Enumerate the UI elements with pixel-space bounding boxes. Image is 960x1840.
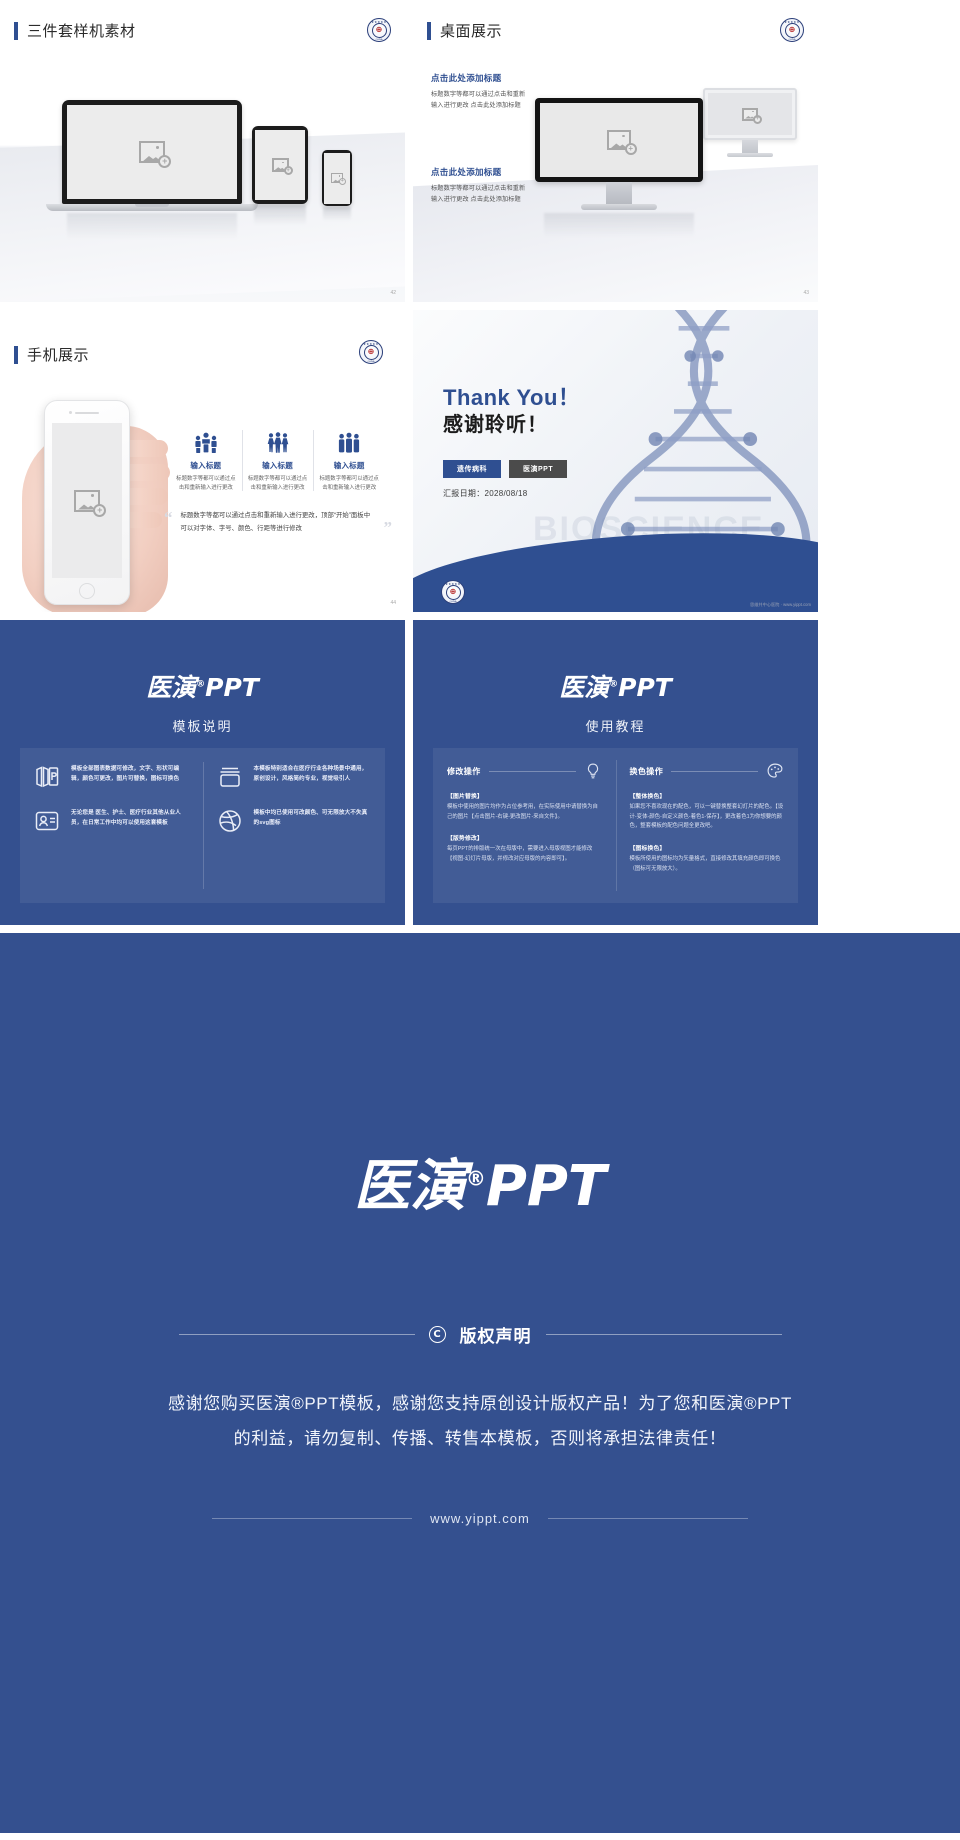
slide-title-text: 手机展示 — [27, 348, 89, 363]
header-rule — [671, 771, 758, 772]
row-gap — [0, 612, 818, 620]
column-gap — [405, 0, 413, 302]
slide-title-desktop: 桌面展示 — [427, 22, 502, 40]
image-placeholder-icon[interactable]: + — [74, 490, 100, 512]
phone-body: + — [322, 150, 352, 206]
intro-panel: 模板全部图表数据可修改，文字、形状可编辑，颜色可更改，图片可替换，图标可换色 无… — [20, 748, 385, 903]
tablet-body: + — [252, 126, 308, 204]
placeholder-sun — [339, 175, 341, 176]
feature-column[interactable]: 输入标题 标题数字等都可以通过点击和重新输入进行更改 — [170, 428, 242, 493]
tutorial-block-title: 【整体换色】 — [630, 791, 785, 800]
primary-monitor-foot — [581, 204, 657, 210]
tag-brand[interactable]: 医演PPT — [509, 460, 567, 478]
slide-copyright[interactable]: 医演®PPT C 版权声明 感谢您购买医演®PPT模板，感谢您支持原创设计版权产… — [0, 933, 960, 1833]
dribbble-icon — [217, 808, 243, 834]
slide-title-text: 三件套样机素材 — [27, 24, 136, 39]
feature-title: 输入标题 — [318, 460, 380, 471]
title-accent-bar — [14, 22, 18, 40]
slide-title-mockup: 三件套样机素材 — [14, 22, 136, 40]
copyright-footer: www.yippt.com — [0, 1511, 960, 1526]
emblem-bottom-text: CHINA — [442, 601, 464, 603]
slide-row-3: 医演®PPT 模板说明 — [0, 620, 818, 925]
feature-desc: 标题数字等都可以通过点击和重新输入进行更改 — [318, 475, 380, 493]
hand-phone-mockup: + — [18, 382, 178, 612]
brand-name: 医演 — [146, 673, 196, 702]
avatar-id-icon — [34, 808, 60, 834]
placeholder-sun — [91, 494, 95, 497]
iphone-home-button[interactable] — [79, 583, 95, 599]
brand-name: 医演 — [559, 673, 609, 702]
tutorial-block: 【整体换色】 如果您不喜欢现在的配色，可以一键替换整套幻灯片的配色。【设计-变体… — [630, 791, 785, 832]
slide-subtitle: 模板说明 — [0, 716, 405, 735]
layers-icon — [34, 764, 60, 790]
placeholder-sun — [622, 135, 625, 138]
quote-close-icon: ” — [384, 520, 393, 535]
quote-text: 标题数字等都可以通过点击和重新输入进行更改，顶部“开始”面板中可以对字体、字号、… — [181, 510, 376, 536]
emblem-inner-ring: ⊕ — [785, 23, 800, 38]
thank-you-title-cn: 感谢聆听！ — [443, 408, 548, 437]
block-body: 标题数字等都可以通过点击和重新输入进行更改 点击此处添加标题 — [431, 183, 527, 205]
quote-open-icon: “ — [164, 510, 173, 536]
intro-item[interactable]: 模板中均已使用可改颜色、可无限放大不失真的svg图标 — [217, 808, 372, 834]
emblem-bottom-text: CHINA — [781, 39, 803, 41]
thank-you-tags: 遗传病科 医演PPT — [443, 460, 567, 478]
tutorial-block-desc: 如果您不喜欢现在的配色，可以一键替换整套幻灯片的配色。【设计-变体-颜色-自定义… — [630, 803, 785, 832]
secondary-monitor-foot — [727, 153, 773, 157]
tutorial-block: 【版势修改】 每页PPT的排版统一次在母版中，需要进入母版视图才能修改【视图-幻… — [447, 833, 602, 864]
brand-suffix: PPT — [618, 673, 672, 702]
hospital-emblem-icon: ★★★★★ ⊕ CHINA — [441, 580, 465, 604]
slide-mobile-showcase[interactable]: 手机展示 ★★★★★ ⊕ CHINA — [0, 310, 405, 612]
slide-row-1: 三件套样机素材 ★★★★★ ⊕ CHINA — [0, 0, 818, 302]
secondary-monitor-content: + — [708, 93, 792, 135]
brand-logo: 医演®PPT — [0, 668, 405, 704]
palette-icon — [766, 762, 784, 780]
slide-deck-preview: 三件套样机素材 ★★★★★ ⊕ CHINA — [0, 0, 960, 1840]
title-accent-bar — [427, 22, 431, 40]
slide-page-number: 42 — [390, 290, 396, 296]
feature-desc: 标题数字等都可以通过点击和重新输入进行更改 — [175, 475, 237, 493]
emblem-inner-ring: ⊕ — [364, 345, 379, 360]
copyright-title: 版权声明 — [460, 1322, 532, 1347]
primary-monitor-mockup: + — [535, 98, 703, 237]
column-gap — [405, 310, 413, 612]
hospital-emblem-icon: ★★★★★ ⊕ CHINA — [780, 18, 804, 42]
copyright-body-text: 感谢您购买医演®PPT模板，感谢您支持原创设计版权产品！为了您和医演®PPT的利… — [160, 1387, 800, 1457]
placeholder-add-badge[interactable]: + — [284, 166, 293, 175]
placeholder-add-badge[interactable]: + — [625, 143, 637, 155]
tutorial-block-desc: 每页PPT的排版统一次在母版中，需要进入母版视图才能修改【视图-幻灯片母版，并修… — [447, 845, 602, 864]
block-heading: 点击此处添加标题 — [431, 72, 527, 84]
feature-title: 输入标题 — [175, 460, 237, 471]
slide-thank-you[interactable]: BIOSCIENCE — [413, 310, 818, 612]
tutorial-block-title: 【版势修改】 — [447, 833, 602, 842]
slide-page-number: 44 — [390, 600, 396, 606]
mobile-quote-block: “ 标题数字等都可以通过点击和重新输入进行更改，顶部“开始”面板中可以对字体、字… — [164, 510, 392, 536]
placeholder-add-badge[interactable]: + — [753, 115, 762, 124]
desktop-text-block-2: 点击此处添加标题 标题数字等都可以通过点击和重新输入进行更改 点击此处添加标题 — [431, 166, 527, 205]
intro-item-text: 模板中均已使用可改颜色、可无限放大不失真的svg图标 — [254, 808, 372, 829]
brand-name: 医演 — [354, 1154, 466, 1219]
tutorial-block-title: 【图标换色】 — [630, 843, 785, 852]
intro-item[interactable]: 模板全部图表数据可修改，文字、形状可编辑，颜色可更改，图片可替换，图标可换色 — [34, 764, 189, 790]
placeholder-sun — [282, 162, 284, 164]
slide-desktop-showcase[interactable]: 桌面展示 ★★★★★ ⊕ CHINA — [413, 0, 818, 302]
primary-monitor-screen: + — [535, 98, 703, 182]
primary-monitor-reflection — [544, 213, 694, 237]
laptop-mockup: + — [62, 100, 242, 239]
tablet-mockup: + — [252, 126, 308, 225]
slide-usage-tutorial[interactable]: 医演®PPT 使用教程 修改操作 — [413, 620, 818, 925]
laptop-base — [46, 204, 258, 211]
brand-logo-block: 医演®PPT — [0, 933, 960, 1222]
brand-suffix: PPT — [486, 1154, 606, 1219]
placeholder-add-badge[interactable]: + — [93, 504, 106, 517]
placeholder-sun — [156, 146, 160, 149]
emblem-cross-glyph: ⊕ — [789, 26, 796, 34]
secondary-monitor-neck — [742, 140, 758, 153]
primary-monitor-neck — [606, 182, 632, 204]
tutorial-column-recolor: 换色操作 【整体换色】 如果您不喜 — [616, 748, 799, 903]
laptop-notch — [135, 204, 169, 207]
slide-page-number: 43 — [803, 290, 809, 296]
brand-logo-block: 医演®PPT 模板说明 — [0, 620, 405, 735]
footer-line-left — [212, 1518, 412, 1519]
hospital-emblem-icon: ★★★★★ ⊕ CHINA — [359, 340, 383, 364]
laptop-screen-content: + — [67, 105, 237, 199]
intro-item-text: 无论您是 医生、护士、医疗行业其他从业人员，在日常工作中均可以使用这套模板 — [71, 808, 189, 829]
tutorial-block-desc: 模板所使用的图标均为矢量格式，直接修改其填充颜色即可换色（图标可无限放大）。 — [630, 855, 785, 874]
tutorial-heading: 修改操作 — [447, 766, 481, 777]
column-gap — [405, 620, 413, 925]
tag-department[interactable]: 遗传病科 — [443, 460, 501, 478]
intro-item[interactable]: 无论您是 医生、护士、医疗行业其他从业人员，在日常工作中均可以使用这套模板 — [34, 808, 189, 834]
feature-columns: 输入标题 标题数字等都可以通过点击和重新输入进行更改 输入标题 标题数字等都可以… — [170, 428, 385, 493]
placeholder-add-badge[interactable]: + — [158, 155, 171, 168]
emblem-cross-glyph: ⊕ — [450, 588, 457, 596]
brand-suffix: PPT — [205, 673, 259, 702]
intro-item-text: 模板全部图表数据可修改，文字、形状可编辑，颜色可更改，图片可替换，图标可换色 — [71, 764, 189, 785]
lightbulb-icon — [584, 762, 602, 780]
tutorial-column-edit: 修改操作 【图片替换】 模板中使用的图片均作为占位参考用，在实际使用中请替换为自… — [433, 748, 616, 903]
phone-reflection — [323, 207, 351, 221]
intro-column-right: 本模板特别适合在医疗行业各种场景中通用，原创设计，风格简约专业，视觉吸引人 模板… — [203, 748, 386, 903]
tutorial-heading: 换色操作 — [630, 766, 664, 777]
box-icon — [217, 764, 243, 790]
slide-row-2: 手机展示 ★★★★★ ⊕ CHINA — [0, 310, 818, 612]
tutorial-block-title: 【图片替换】 — [447, 791, 602, 800]
divider-line-right — [546, 1334, 782, 1335]
laptop-reflection — [67, 213, 237, 239]
tutorial-block: 【图标换色】 模板所使用的图标均为矢量格式，直接修改其填充颜色即可换色（图标可无… — [630, 843, 785, 874]
brand-logo-block: 医演®PPT 使用教程 — [413, 620, 818, 735]
desktop-text-block-1: 点击此处添加标题 标题数字等都可以通过点击和重新输入进行更改 点击此处添加标题 — [431, 72, 527, 111]
team-meeting-icon — [175, 428, 237, 454]
website-url[interactable]: www.yippt.com — [430, 1511, 530, 1526]
copyright-divider: C 版权声明 — [0, 1322, 960, 1347]
tutorial-column-header: 修改操作 — [447, 762, 602, 780]
phone-screen: + — [324, 153, 350, 204]
tutorial-block: 【图片替换】 模板中使用的图片均作为占位参考用，在实际使用中请替换为自己的图片【… — [447, 791, 602, 822]
brand-logo: 医演®PPT — [413, 668, 818, 704]
image-placeholder-icon[interactable]: + — [331, 173, 343, 183]
iphone-camera — [69, 411, 72, 414]
feature-column[interactable]: 输入标题 标题数字等都可以通过点击和重新输入进行更改 — [242, 428, 314, 493]
footer-line-right — [548, 1518, 748, 1519]
slide-subtitle: 使用教程 — [413, 716, 818, 735]
phone-mockup: + — [322, 150, 352, 221]
slide-title-mobile: 手机展示 — [14, 346, 89, 364]
iphone-display: + — [52, 423, 122, 578]
feature-title: 输入标题 — [247, 460, 309, 471]
emblem-bottom-text: CHINA — [360, 361, 382, 363]
image-placeholder-icon[interactable]: + — [272, 158, 289, 172]
intro-item[interactable]: 本模板特别适合在医疗行业各种场景中通用，原创设计，风格简约专业，视觉吸引人 — [217, 764, 372, 790]
emblem-cross-glyph: ⊕ — [376, 26, 383, 34]
people-three-icon — [318, 428, 380, 454]
people-group-icon — [247, 428, 309, 454]
iphone-speaker — [75, 412, 99, 414]
slide-mockup-materials[interactable]: 三件套样机素材 ★★★★★ ⊕ CHINA — [0, 0, 405, 302]
block-body: 标题数字等都可以通过点击和重新输入进行更改 点击此处添加标题 — [431, 89, 527, 111]
report-date-label: 汇报日期：2028/08/18 — [443, 488, 528, 499]
brand-registered-mark: ® — [609, 680, 618, 690]
tablet-reflection — [254, 205, 306, 225]
brand-registered-mark: ® — [196, 680, 205, 690]
tutorial-column-header: 换色操作 — [630, 762, 785, 780]
header-rule — [489, 771, 576, 772]
emblem-inner-ring: ⊕ — [446, 585, 461, 600]
emblem-cross-glyph: ⊕ — [368, 348, 375, 356]
placeholder-add-badge[interactable]: + — [339, 178, 346, 185]
placeholder-sun — [752, 111, 754, 112]
brand-logo: 医演®PPT — [0, 1141, 960, 1222]
intro-column-left: 模板全部图表数据可修改，文字、形状可编辑，颜色可更改，图片可替换，图标可换色 无… — [20, 748, 203, 903]
secondary-monitor-mockup: + — [703, 88, 797, 157]
emblem-inner-ring: ⊕ — [372, 23, 387, 38]
block-heading: 点击此处添加标题 — [431, 166, 527, 178]
hospital-emblem-icon: ★★★★★ ⊕ CHINA — [367, 18, 391, 42]
copyright-icon: C — [429, 1326, 446, 1343]
image-placeholder-icon[interactable]: + — [139, 141, 165, 163]
emblem-bottom-text: CHINA — [368, 39, 390, 41]
secondary-monitor-screen: + — [703, 88, 797, 140]
tutorial-panel: 修改操作 【图片替换】 模板中使用的图片均作为占位参考用，在实际使用中请替换为自… — [433, 748, 798, 903]
tutorial-block-desc: 模板中使用的图片均作为占位参考用，在实际使用中请替换为自己的图片【点击图片-右键… — [447, 803, 602, 822]
feature-column[interactable]: 输入标题 标题数字等都可以通过点击和重新输入进行更改 — [313, 428, 385, 493]
intro-item-text: 本模板特别适合在医疗行业各种场景中通用，原创设计，风格简约专业，视觉吸引人 — [254, 764, 372, 785]
slide-template-intro[interactable]: 医演®PPT 模板说明 — [0, 620, 405, 925]
iphone-mockup: + — [44, 400, 130, 605]
row-gap — [0, 302, 818, 310]
image-placeholder-icon[interactable]: + — [607, 130, 631, 150]
feature-desc: 标题数字等都可以通过点击和重新输入进行更改 — [247, 475, 309, 493]
primary-monitor-content: + — [540, 103, 698, 177]
slide-title-text: 桌面展示 — [440, 24, 502, 39]
thank-you-footer: 思维共中心医院 · www.yippt.com — [750, 602, 811, 608]
tablet-screen: + — [255, 130, 305, 200]
brand-registered-mark: ® — [466, 1166, 486, 1190]
title-accent-bar — [14, 346, 18, 364]
image-placeholder-icon[interactable]: + — [742, 108, 758, 121]
laptop-screen: + — [62, 100, 242, 204]
divider-line-left — [179, 1334, 415, 1335]
